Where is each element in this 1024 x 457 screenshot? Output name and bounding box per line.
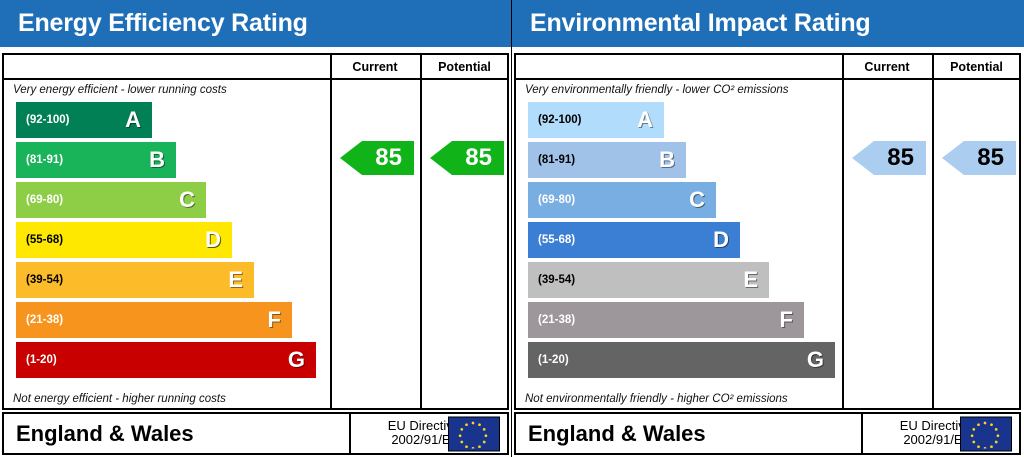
environmental-band-f-letter: F — [780, 309, 793, 331]
energy-footer-directive: EU Directive 2002/91/EC — [362, 419, 460, 449]
environmental-header-potential: Potential — [934, 55, 1019, 78]
environmental-caption-bottom: Not environmentally friendly - higher CO… — [525, 393, 788, 405]
energy-potential-value: 85 — [465, 146, 492, 170]
energy-band-g: (1-20) G — [16, 342, 316, 378]
energy-column-header-row: Current Potential — [4, 55, 507, 80]
environmental-footer-divider — [861, 414, 863, 453]
energy-divider-1 — [330, 55, 332, 78]
environmental-band-a: (92-100) A — [528, 102, 664, 138]
environmental-band-a-range: (92-100) — [538, 114, 581, 126]
energy-band-c: (69-80) C — [16, 182, 206, 218]
energy-footer-divider — [349, 414, 351, 453]
environmental-band-a-letter: A — [637, 109, 653, 131]
environmental-band-e: (39-54) E — [528, 262, 769, 298]
energy-band-a-letter: A — [125, 109, 141, 131]
environmental-current-value: 85 — [887, 146, 914, 170]
energy-band-f-range: (21-38) — [26, 314, 63, 326]
energy-header-current: Current — [330, 55, 420, 78]
environmental-body-divider-2 — [932, 80, 934, 408]
energy-directive-line1: EU Directive — [362, 419, 460, 434]
energy-body-divider-1 — [330, 80, 332, 408]
energy-caption-top: Very energy efficient - lower running co… — [13, 84, 227, 96]
energy-efficiency-certificate: Energy Efficiency Rating Current Potenti… — [0, 0, 512, 457]
environmental-band-f: (21-38) F — [528, 302, 804, 338]
energy-band-a-range: (92-100) — [26, 114, 69, 126]
energy-footer: England & Wales EU Directive 2002/91/EC — [2, 412, 509, 455]
environmental-footer-region: England & Wales — [528, 421, 706, 447]
energy-band-e: (39-54) E — [16, 262, 254, 298]
energy-header-blank — [4, 55, 330, 78]
environmental-band-e-range: (39-54) — [538, 274, 575, 286]
energy-band-a: (92-100) A — [16, 102, 152, 138]
environmental-potential-arrow: 85 — [942, 141, 1016, 175]
energy-band-c-letter: C — [179, 189, 195, 211]
environmental-band-c-range: (69-80) — [538, 194, 575, 206]
environmental-band-g-range: (1-20) — [538, 354, 569, 366]
environmental-band-f-range: (21-38) — [538, 314, 575, 326]
environmental-chart-body: Very environmentally friendly - lower CO… — [516, 80, 1019, 408]
environmental-directive-line2: 2002/91/EC — [874, 434, 972, 449]
environmental-directive-line1: EU Directive — [874, 419, 972, 434]
environmental-title: Environmental Impact Rating — [530, 9, 871, 38]
environmental-divider-2 — [932, 55, 934, 78]
energy-band-b: (81-91) B — [16, 142, 176, 178]
environmental-band-b-range: (81-91) — [538, 154, 575, 166]
environmental-potential-value: 85 — [977, 146, 1004, 170]
environmental-divider-1 — [842, 55, 844, 78]
energy-current-arrow: 85 — [340, 141, 414, 175]
environmental-band-d-letter: D — [713, 229, 729, 251]
environmental-band-c: (69-80) C — [528, 182, 716, 218]
environmental-band-e-letter: E — [743, 269, 758, 291]
energy-band-b-letter: B — [149, 149, 165, 171]
energy-body-divider-2 — [420, 80, 422, 408]
energy-directive-line2: 2002/91/EC — [362, 434, 460, 449]
energy-band-d-letter: D — [205, 229, 221, 251]
environmental-band-d-range: (55-68) — [538, 234, 575, 246]
environmental-title-bar: Environmental Impact Rating — [512, 0, 1024, 47]
environmental-body-divider-1 — [842, 80, 844, 408]
environmental-header-current: Current — [842, 55, 932, 78]
energy-band-f: (21-38) F — [16, 302, 292, 338]
energy-title-bar: Energy Efficiency Rating — [0, 0, 511, 47]
environmental-column-header-row: Current Potential — [516, 55, 1019, 80]
environmental-header-blank — [516, 55, 842, 78]
environmental-footer: England & Wales EU Directive 2002/91/EC — [514, 412, 1021, 455]
environmental-band-b-letter: B — [659, 149, 675, 171]
energy-chart-frame: Current Potential Very energy efficient … — [2, 53, 509, 410]
environmental-band-d: (55-68) D — [528, 222, 740, 258]
eu-flag-icon — [960, 416, 1012, 451]
energy-band-f-letter: F — [268, 309, 281, 331]
energy-header-potential: Potential — [422, 55, 507, 78]
environmental-chart-frame: Current Potential Very environmentally f… — [514, 53, 1021, 410]
energy-band-e-range: (39-54) — [26, 274, 63, 286]
environmental-band-c-letter: C — [689, 189, 705, 211]
energy-band-d: (55-68) D — [16, 222, 232, 258]
energy-band-c-range: (69-80) — [26, 194, 63, 206]
environmental-current-arrow: 85 — [852, 141, 926, 175]
energy-band-g-range: (1-20) — [26, 354, 57, 366]
energy-band-b-range: (81-91) — [26, 154, 63, 166]
energy-band-g-letter: G — [288, 349, 305, 371]
energy-title: Energy Efficiency Rating — [18, 9, 308, 38]
environmental-footer-directive: EU Directive 2002/91/EC — [874, 419, 972, 449]
environmental-caption-top: Very environmentally friendly - lower CO… — [525, 84, 789, 96]
eu-flag-icon — [448, 416, 500, 451]
energy-band-e-letter: E — [228, 269, 243, 291]
energy-potential-arrow: 85 — [430, 141, 504, 175]
energy-caption-bottom: Not energy efficient - higher running co… — [13, 393, 226, 405]
energy-divider-2 — [420, 55, 422, 78]
environmental-band-g: (1-20) G — [528, 342, 835, 378]
energy-band-d-range: (55-68) — [26, 234, 63, 246]
environmental-band-g-letter: G — [807, 349, 824, 371]
energy-current-value: 85 — [375, 146, 402, 170]
environmental-impact-certificate: Environmental Impact Rating Current Pote… — [512, 0, 1024, 457]
environmental-band-b: (81-91) B — [528, 142, 686, 178]
epc-chart-page: Energy Efficiency Rating Current Potenti… — [0, 0, 1024, 457]
energy-chart-body: Very energy efficient - lower running co… — [4, 80, 507, 408]
energy-footer-region: England & Wales — [16, 421, 194, 447]
